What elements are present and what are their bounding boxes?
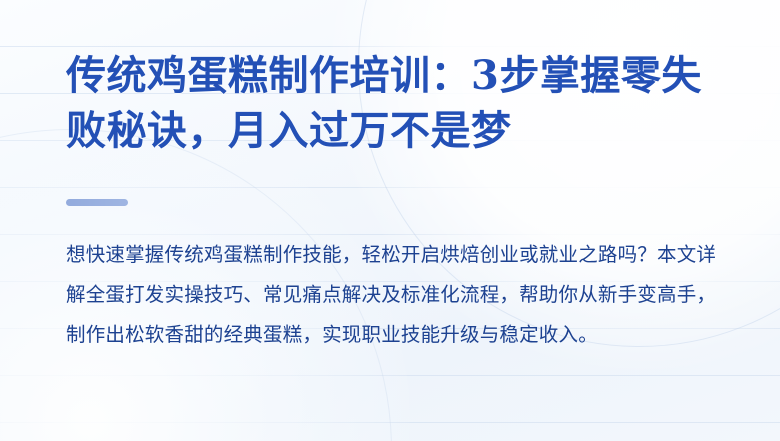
content-area: 传统鸡蛋糕制作培训：3步掌握零失败秘诀，月入过万不是梦 想快速掌握传统鸡蛋糕制作…: [66, 0, 734, 441]
article-summary: 想快速掌握传统鸡蛋糕制作技能，轻松开启烘焙创业或就业之路吗？本文详解全蛋打发实操…: [66, 235, 730, 355]
article-title: 传统鸡蛋糕制作培训：3步掌握零失败秘诀，月入过万不是梦: [66, 48, 732, 158]
article-cover-card: 传统鸡蛋糕制作培训：3步掌握零失败秘诀，月入过万不是梦 想快速掌握传统鸡蛋糕制作…: [0, 0, 780, 441]
title-divider: [66, 199, 128, 206]
